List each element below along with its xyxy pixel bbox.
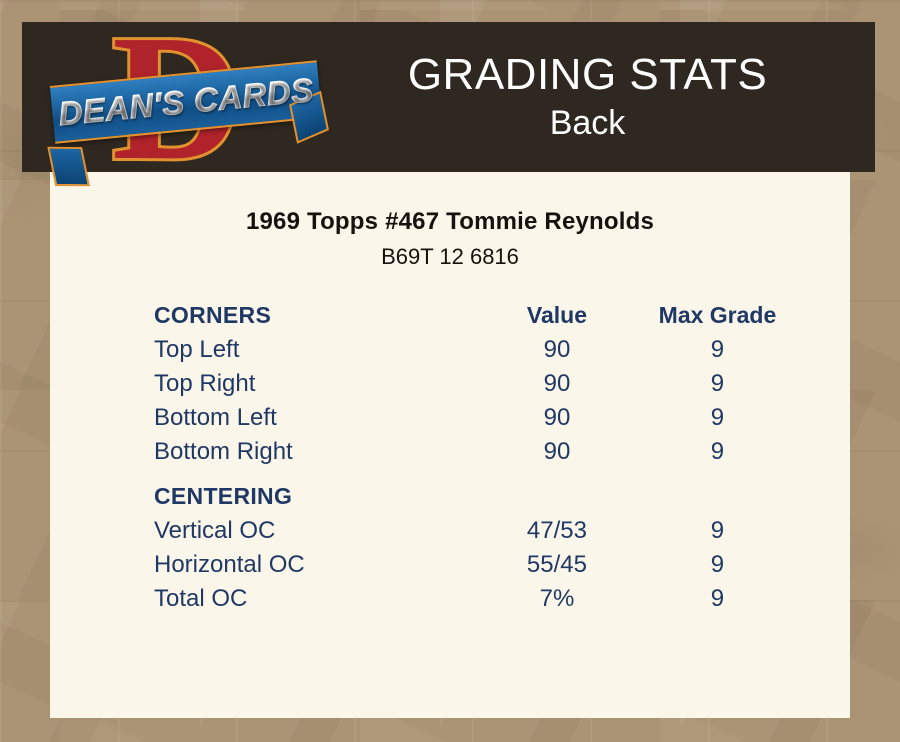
row-max-grade: 9: [637, 367, 798, 401]
column-header-value: Value: [527, 302, 587, 328]
table-row: Bottom Right909: [154, 435, 798, 469]
page-title: GRADING STATS: [408, 52, 767, 98]
row-value: 90: [477, 367, 637, 401]
row-value: 55/45: [477, 548, 637, 582]
row-label: Top Right: [154, 367, 477, 401]
row-value: 90: [477, 435, 637, 469]
content-panel: 1969 Topps #467 Tommie Reynolds B69T 12 …: [50, 172, 850, 718]
row-max-grade: 9: [637, 333, 798, 367]
row-label: Total OC: [154, 582, 477, 616]
row-label: Bottom Left: [154, 401, 477, 435]
table-row: Top Right909: [154, 367, 798, 401]
table-row: Vertical OC47/539: [154, 514, 798, 548]
section-name: CORNERS: [154, 302, 271, 328]
row-label: Vertical OC: [154, 514, 477, 548]
page-subtitle: Back: [550, 106, 626, 142]
row-max-grade: 9: [637, 514, 798, 548]
row-max-grade: 9: [637, 435, 798, 469]
table-row: Bottom Left909: [154, 401, 798, 435]
section-header-row: CORNERSValueMax Grade: [154, 302, 798, 333]
row-max-grade: 9: [637, 548, 798, 582]
card-title: 1969 Topps #467 Tommie Reynolds: [50, 208, 850, 236]
row-max-grade: 9: [637, 401, 798, 435]
row-value: 90: [477, 401, 637, 435]
column-header-max-grade: Max Grade: [659, 302, 777, 328]
row-label: Horizontal OC: [154, 548, 477, 582]
logo-banner-text: DEAN'S CARDS: [57, 71, 315, 133]
logo-banner-tail-left: [47, 147, 90, 187]
grading-stats-table-wrapper: CORNERSValueMax GradeTop Left909Top Righ…: [50, 302, 850, 616]
grading-stats-table: CORNERSValueMax GradeTop Left909Top Righ…: [154, 302, 798, 616]
row-label: Top Left: [154, 333, 477, 367]
deans-cards-logo[interactable]: D D DEAN'S CARDS: [52, 26, 322, 171]
row-value: 7%: [477, 582, 637, 616]
header-title-block: GRADING STATS Back: [300, 22, 875, 172]
row-value: 47/53: [477, 514, 637, 548]
table-row: Top Left909: [154, 333, 798, 367]
row-label: Bottom Right: [154, 435, 477, 469]
card-code: B69T 12 6816: [50, 244, 850, 270]
table-row: Horizontal OC55/459: [154, 548, 798, 582]
section-header-row: CENTERING: [154, 469, 798, 514]
section-name: CENTERING: [154, 483, 292, 509]
row-max-grade: 9: [637, 582, 798, 616]
row-value: 90: [477, 333, 637, 367]
table-row: Total OC7%9: [154, 582, 798, 616]
